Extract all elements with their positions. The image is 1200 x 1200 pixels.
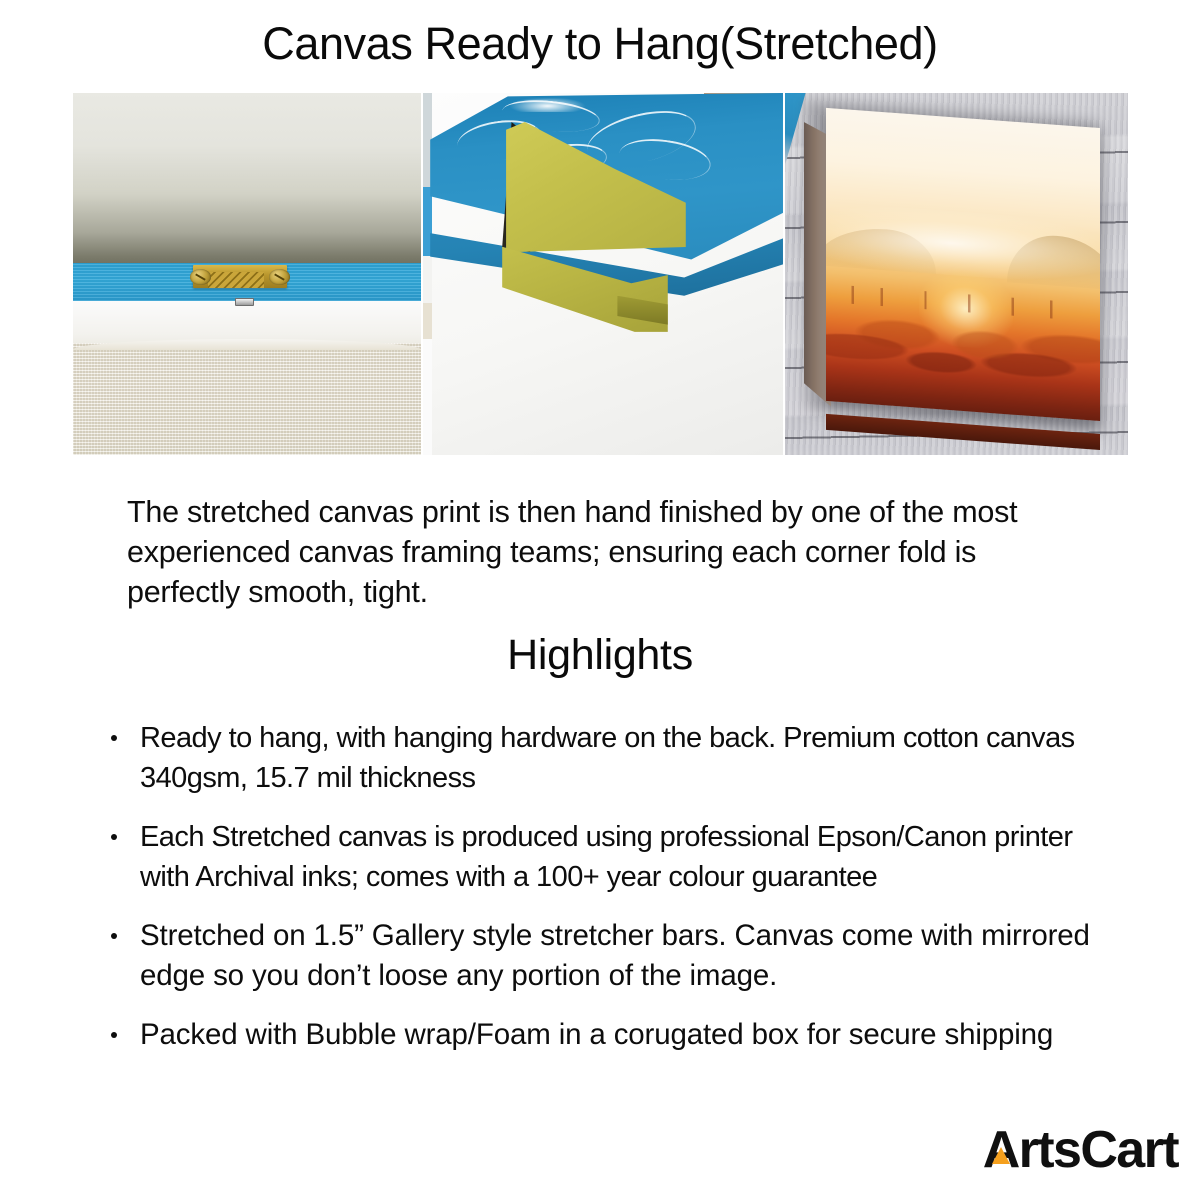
logo-text-rts: rts (1019, 1122, 1081, 1178)
wall-background (73, 93, 421, 267)
bullet-dot-icon (111, 933, 117, 939)
highlights-list: Ready to hang, with hanging hardware on … (108, 718, 1118, 1074)
highlight-item-stretcher-bars: Stretched on 1.5” Gallery style stretche… (108, 916, 1118, 996)
description-paragraph: The stretched canvas print is then hand … (127, 492, 1077, 612)
highlight-item-packaging: Packed with Bubble wrap/Foam in a coruga… (108, 1015, 1118, 1055)
hanger-screw-right (269, 269, 290, 285)
sunset-landscape-print (826, 108, 1100, 421)
bullet-dot-icon (111, 834, 117, 840)
corner-fold-photo (423, 93, 783, 455)
hanger-screw-left (190, 269, 211, 285)
highlight-item-text: Packed with Bubble wrap/Foam in a coruga… (140, 1018, 1053, 1051)
highlight-item-text: Stretched on 1.5” Gallery style stretche… (140, 919, 1090, 992)
highlight-item-ready-to-hang: Ready to hang, with hanging hardware on … (108, 718, 1118, 798)
artscart-logo: A rts Cart (983, 1122, 1178, 1178)
logo-text-cart: Cart (1080, 1122, 1178, 1178)
page-title: Canvas Ready to Hang(Stretched) (0, 18, 1200, 70)
product-infographic-page: Canvas Ready to Hang(Stretched) (0, 0, 1200, 1200)
raw-canvas-surface (73, 343, 421, 455)
highlight-item-printer-inks: Each Stretched canvas is produced using … (108, 817, 1118, 897)
sawtooth-hanger-icon (193, 265, 287, 289)
hanger-nail (235, 298, 254, 307)
canvas-back-hanger-photo (73, 93, 421, 455)
orange-triangle-icon (992, 1147, 1010, 1164)
hanger-teeth (208, 272, 264, 288)
highlight-item-text: Ready to hang, with hanging hardware on … (140, 722, 1075, 794)
bullet-dot-icon (111, 735, 117, 741)
logo-letter-a: A (983, 1122, 1019, 1178)
product-photo-strip (73, 93, 1128, 455)
highlight-item-text: Each Stretched canvas is produced using … (140, 821, 1072, 893)
highlights-heading: Highlights (0, 630, 1200, 680)
hanging-canvas-wood-wall-photo (785, 93, 1128, 455)
bullet-dot-icon (111, 1032, 117, 1038)
